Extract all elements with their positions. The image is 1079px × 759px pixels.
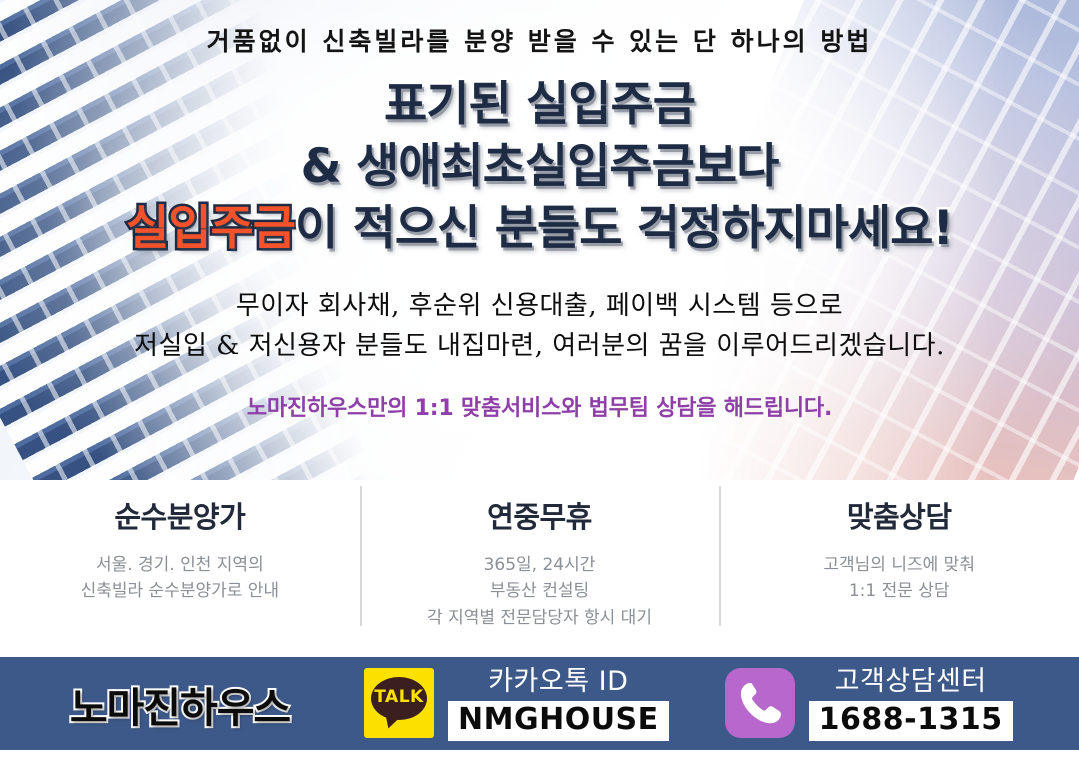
feature-body-1: 서울. 경기. 인천 지역의 신축빌라 순수분양가로 안내	[0, 536, 360, 605]
phone-text-block: 고객상담센터 1688-1315	[809, 666, 1013, 741]
brand-name: 노마진하우스	[0, 674, 360, 734]
phone-contact-block[interactable]: 고객상담센터 1688-1315	[725, 666, 1013, 741]
promise-line: 노마진하우스만의 1:1 맞춤서비스와 법무팀 상담을 해드립니다.	[0, 366, 1079, 422]
feature-columns: 순수분양가 서울. 경기. 인천 지역의 신축빌라 순수분양가로 안내 연중무휴…	[0, 480, 1079, 640]
kakao-id-label: 카카오톡 ID	[448, 666, 669, 697]
feature-body-3: 고객님의 니즈에 맞춰 1:1 전문 상담	[719, 536, 1079, 605]
feature-1-line-1: 서울. 경기. 인천 지역의	[0, 552, 360, 578]
headline-line-3-rest: 이 적으신 분들도 걱정하지마세요!	[295, 201, 953, 256]
eyebrow-line-2: 단 하나의 방법	[693, 27, 872, 56]
kakaotalk-icon[interactable]: TALK	[364, 668, 434, 738]
kakao-bubble-tail	[382, 712, 403, 731]
customer-center-label: 고객상담센터	[809, 666, 1013, 697]
eyebrow-line-1: 거품없이 신축빌라를 분양 받을 수 있는	[207, 27, 682, 56]
footer-bottom-strip	[0, 750, 1079, 759]
headline-line-1: 표기된 실입주금	[0, 74, 1079, 136]
lede-paragraph: 무이자 회사채, 후순위 신용대출, 페이백 시스템 등으로 저실입 & 저신용…	[0, 260, 1079, 367]
feature-title-1: 순수분양가	[0, 494, 360, 536]
hero-content: 거품없이 신축빌라를 분양 받을 수 있는 단 하나의 방법 표기된 실입주금 …	[0, 0, 1079, 480]
feature-title-3: 맞춤상담	[719, 494, 1079, 536]
phone-handset-glyph	[738, 680, 782, 726]
feature-column-3: 맞춤상담 고객님의 니즈에 맞춰 1:1 전문 상담	[719, 480, 1079, 640]
feature-3-line-1: 고객님의 니즈에 맞춰	[719, 552, 1079, 578]
feature-1-line-2: 신축빌라 순수분양가로 안내	[0, 578, 360, 604]
feature-2-line-1: 365일, 24시간	[360, 552, 720, 578]
footer-contact-bar: 노마진하우스 TALK 카카오톡 ID NMGHOUSE 고객상담센터 1688…	[0, 657, 1079, 750]
lede-line-1: 무이자 회사채, 후순위 신용대출, 페이백 시스템 등으로	[0, 286, 1079, 326]
feature-3-line-2: 1:1 전문 상담	[719, 578, 1079, 604]
feature-title-2: 연중무휴	[360, 494, 720, 536]
customer-center-number[interactable]: 1688-1315	[809, 701, 1013, 741]
headline-accent-text: 실입주금	[126, 201, 295, 256]
advertisement-banner: 거품없이 신축빌라를 분양 받을 수 있는 단 하나의 방법 표기된 실입주금 …	[0, 0, 1079, 759]
eyebrow-headline: 거품없이 신축빌라를 분양 받을 수 있는 단 하나의 방법	[0, 0, 1079, 60]
kakao-text-block: 카카오톡 ID NMGHOUSE	[448, 666, 669, 741]
phone-icon[interactable]	[725, 668, 795, 738]
feature-column-2: 연중무휴 365일, 24시간 부동산 컨설팅 각 지역별 전문담당자 항시 대…	[360, 480, 720, 640]
kakao-contact-block[interactable]: TALK 카카오톡 ID NMGHOUSE	[364, 666, 669, 741]
feature-2-line-3: 각 지역별 전문담당자 항시 대기	[360, 605, 720, 631]
lede-line-2: 저실입 & 저신용자 분들도 내집마련, 여러분의 꿈을 이루어드리겠습니다.	[0, 326, 1079, 366]
kakao-id-value[interactable]: NMGHOUSE	[448, 701, 669, 741]
feature-2-line-2: 부동산 컨설팅	[360, 578, 720, 604]
headline-line-3: 실입주금이 적으신 분들도 걱정하지마세요!	[0, 198, 1079, 260]
feature-body-2: 365일, 24시간 부동산 컨설팅 각 지역별 전문담당자 항시 대기	[360, 536, 720, 631]
kakao-icon-label: TALK	[364, 687, 434, 707]
headline-line-2: & 생애최초실입주금보다	[0, 136, 1079, 198]
feature-column-1: 순수분양가 서울. 경기. 인천 지역의 신축빌라 순수분양가로 안내	[0, 480, 360, 640]
main-headline: 표기된 실입주금 & 생애최초실입주금보다 실입주금이 적으신 분들도 걱정하지…	[0, 60, 1079, 260]
